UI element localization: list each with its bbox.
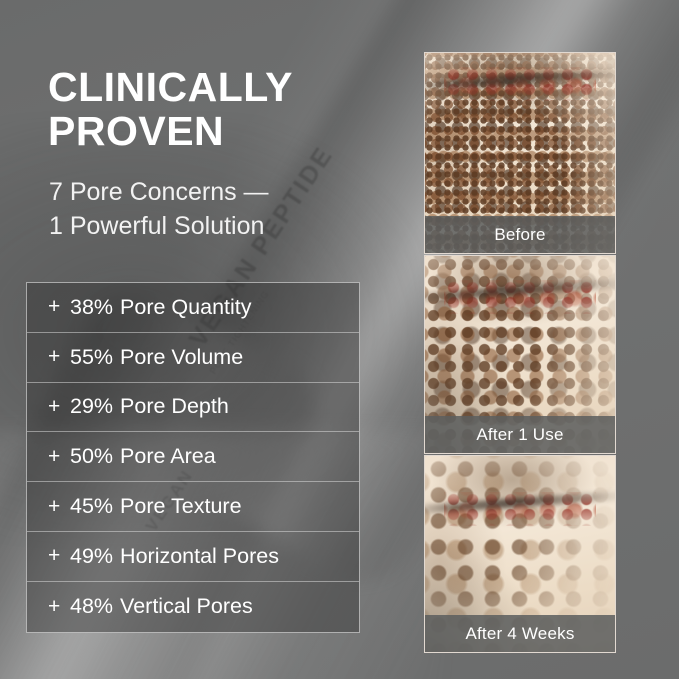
subtitle-line-2: 1 Powerful Solution [49, 210, 389, 244]
stat-percent: 49% [70, 544, 113, 569]
photo-card-before: Before [424, 52, 616, 254]
page-title: CLINICALLY PROVEN [48, 66, 378, 154]
list-item: + 45% Pore Texture [27, 482, 359, 532]
infographic-root: VEGAN PEPTIDE PORE TIGHTENING VEGAN CLIN… [0, 0, 679, 679]
stat-percent: 29% [70, 394, 113, 419]
stat-label: Pore Texture [120, 494, 242, 519]
list-item: + 48% Vertical Pores [27, 582, 359, 632]
stat-label: Vertical Pores [120, 594, 253, 619]
stat-percent: 45% [70, 494, 113, 519]
list-item: + 55% Pore Volume [27, 333, 359, 383]
plus-icon: + [48, 395, 70, 419]
stat-label: Pore Depth [120, 394, 229, 419]
plus-icon: + [48, 595, 70, 619]
plus-icon: + [48, 495, 70, 519]
plus-icon: + [48, 295, 70, 319]
photo-caption: Before [425, 216, 615, 253]
stat-percent: 55% [70, 345, 113, 370]
page-subtitle: 7 Pore Concerns — 1 Powerful Solution [49, 176, 389, 244]
stat-label: Pore Quantity [120, 295, 251, 320]
stat-label: Horizontal Pores [120, 544, 279, 569]
plus-icon: + [48, 445, 70, 469]
stat-label: Pore Volume [120, 345, 243, 370]
photo-caption: After 1 Use [425, 416, 615, 453]
list-item: + 38% Pore Quantity [27, 283, 359, 333]
plus-icon: + [48, 345, 70, 369]
list-item: + 50% Pore Area [27, 432, 359, 482]
pore-benefit-list: + 38% Pore Quantity + 55% Pore Volume + … [26, 282, 360, 633]
stat-label: Pore Area [120, 444, 216, 469]
subtitle-line-1: 7 Pore Concerns — [49, 176, 389, 210]
list-item: + 49% Horizontal Pores [27, 532, 359, 582]
stat-percent: 50% [70, 444, 113, 469]
photo-caption: After 4 Weeks [425, 615, 615, 652]
photo-card-after-1-use: After 1 Use [424, 255, 616, 454]
plus-icon: + [48, 544, 70, 568]
stat-percent: 48% [70, 594, 113, 619]
stat-percent: 38% [70, 295, 113, 320]
photo-card-after-4-weeks: After 4 Weeks [424, 455, 616, 653]
list-item: + 29% Pore Depth [27, 383, 359, 433]
